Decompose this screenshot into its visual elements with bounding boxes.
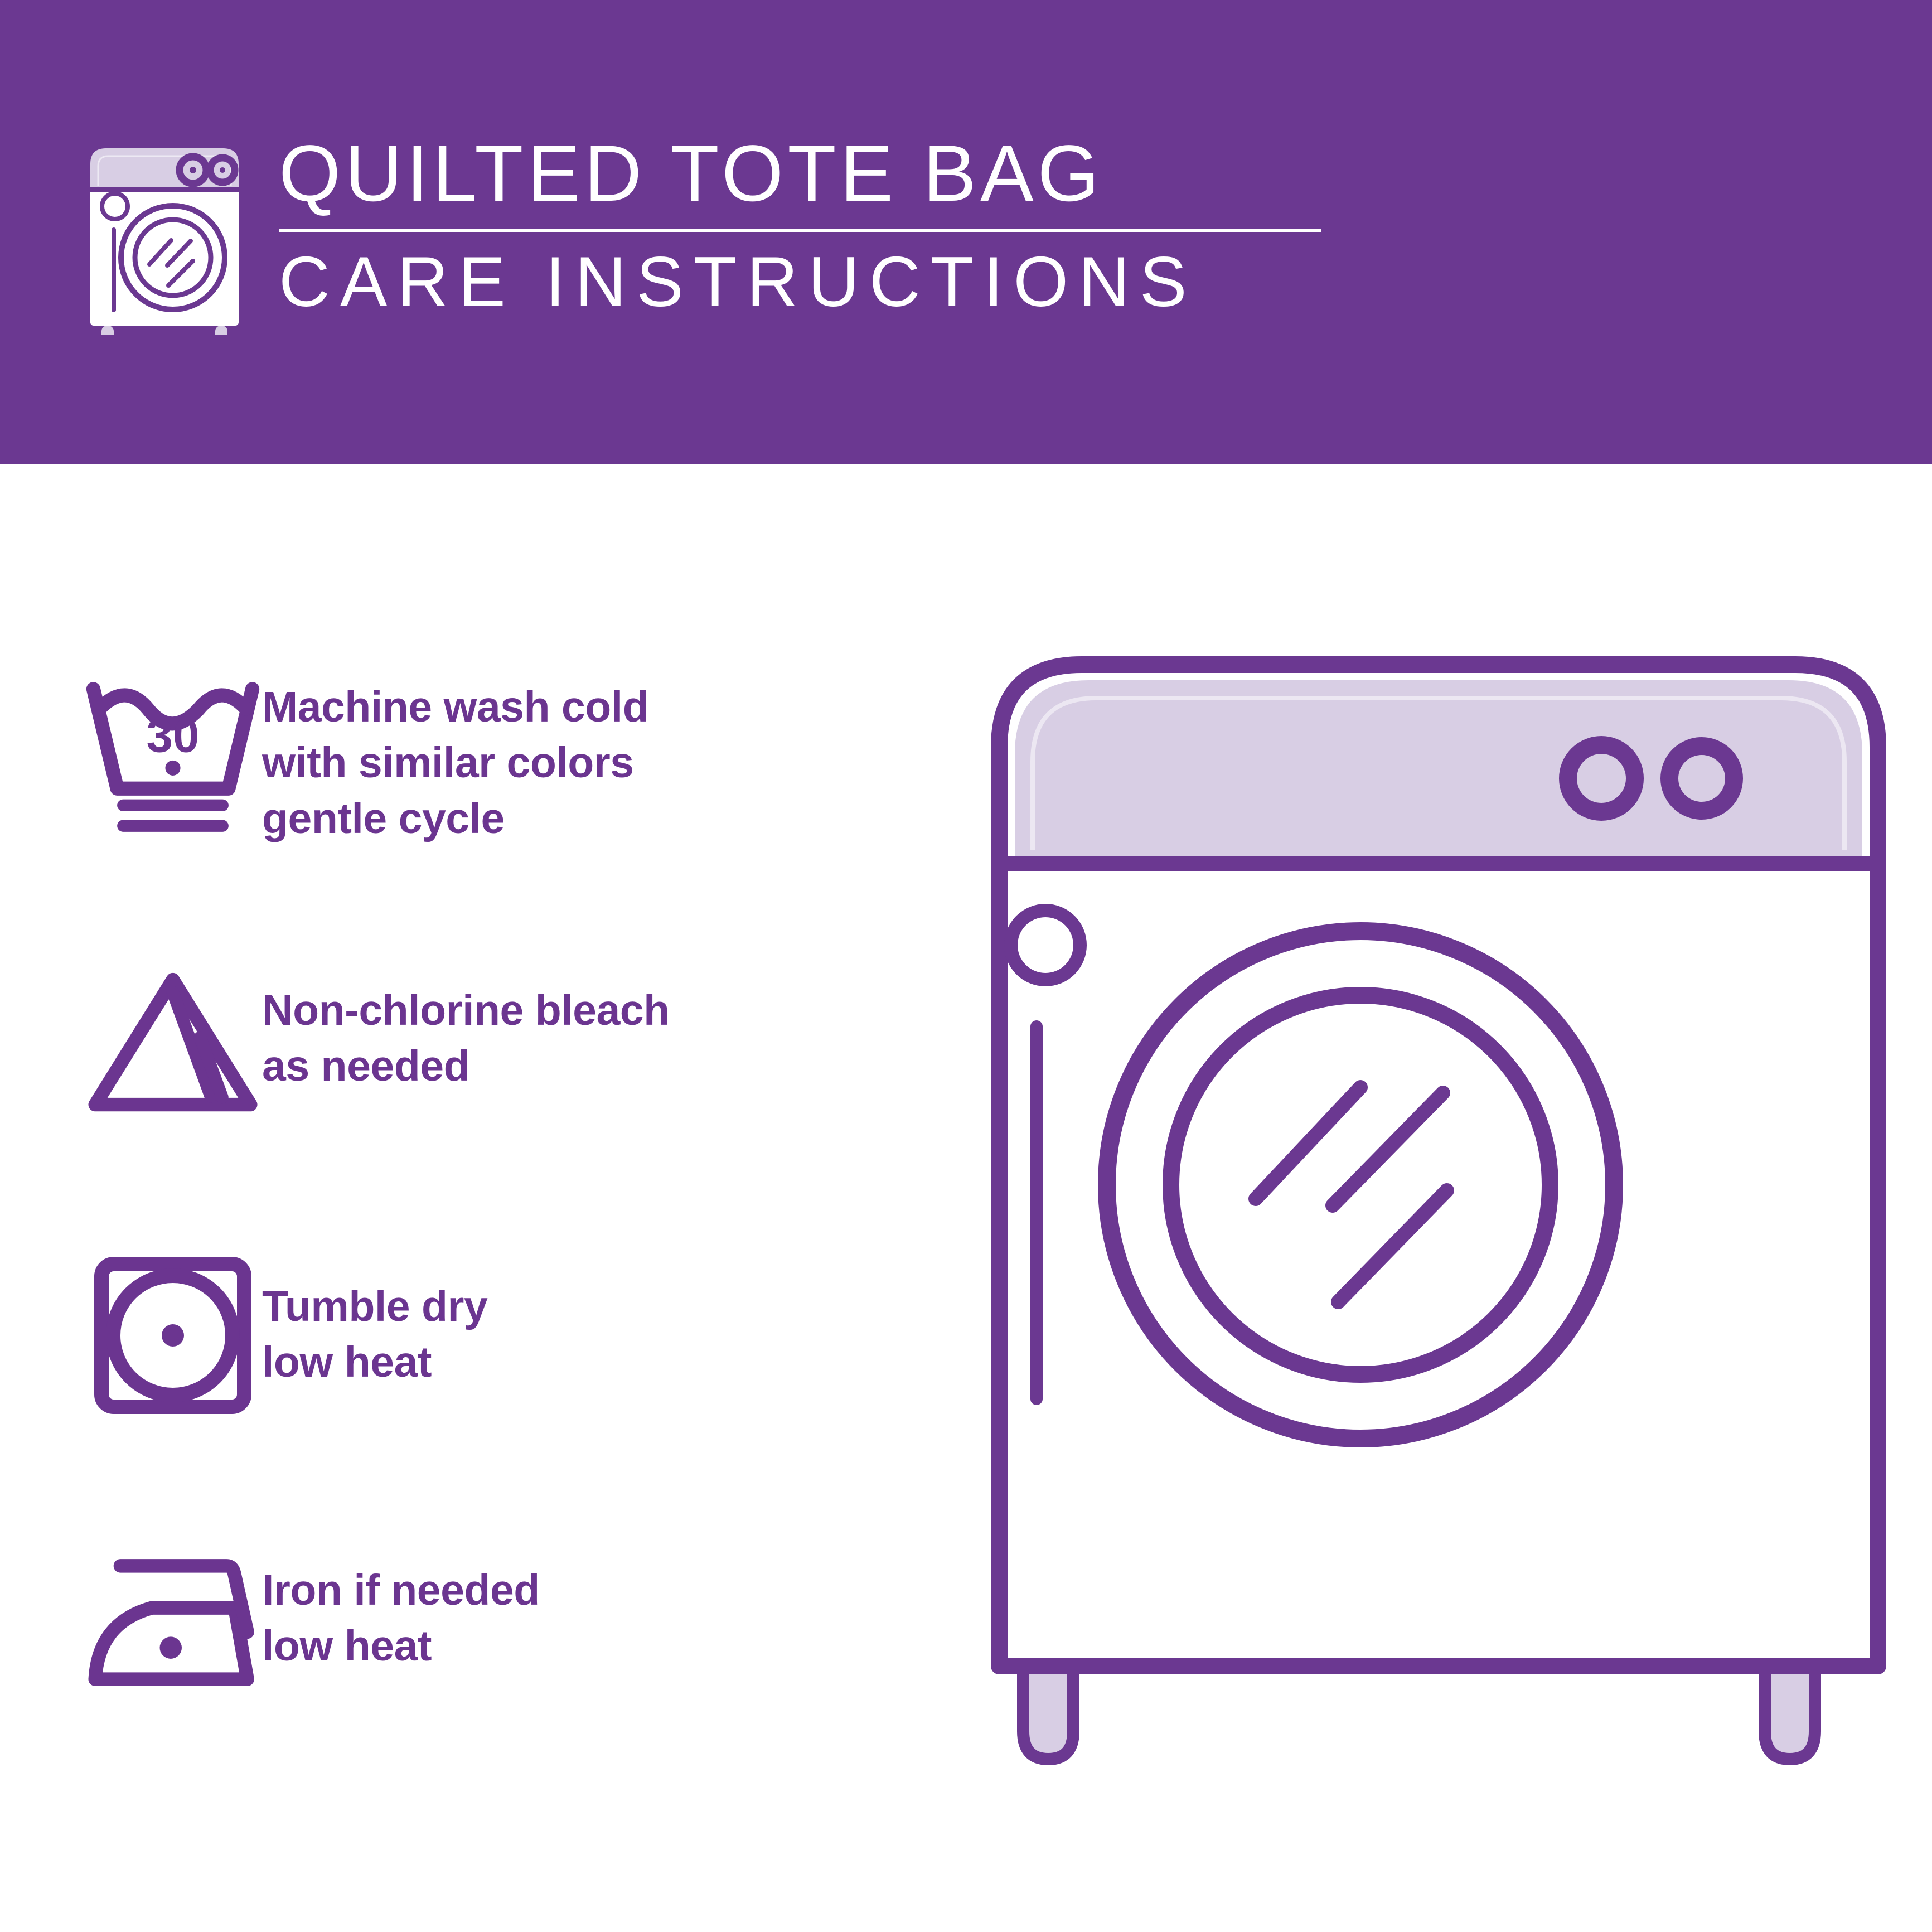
care-text-line: Machine wash cold	[262, 679, 648, 735]
wash-tub-30-gentle-icon: 30	[0, 657, 262, 858]
care-text-line: as needed	[262, 1038, 670, 1094]
page-title: QUILTED TOTE BAG	[279, 134, 1338, 214]
care-text-line: gentle cycle	[262, 791, 648, 846]
wash-temperature-label: 30	[147, 709, 200, 762]
care-instruction-item: 30 Machine wash cold with similar colors…	[0, 657, 948, 858]
care-instruction-text: Iron if needed low heat	[262, 1522, 540, 1674]
non-chlorine-bleach-triangle-icon	[0, 942, 262, 1143]
care-text-line: Iron if needed	[262, 1562, 540, 1618]
tumble-dry-low-heat-icon	[0, 1235, 262, 1436]
care-instruction-text: Non-chlorine bleach as needed	[262, 942, 670, 1094]
care-instruction-item: Iron if needed low heat	[0, 1522, 948, 1723]
header-divider	[279, 229, 1321, 232]
care-instruction-text: Tumble dry low heat	[262, 1235, 487, 1390]
detergent-handle	[1030, 1020, 1043, 1405]
care-text-line: low heat	[262, 1618, 540, 1674]
care-instruction-item: Non-chlorine bleach as needed	[0, 942, 948, 1143]
header-band: QUILTED TOTE BAG CARE INSTRUCTIONS	[0, 0, 1932, 464]
page-subtitle: CARE INSTRUCTIONS	[279, 246, 1338, 317]
care-text-line: with similar colors	[262, 735, 648, 791]
iron-low-heat-icon	[0, 1522, 262, 1723]
washing-machine-icon	[84, 141, 245, 335]
header-text-group: QUILTED TOTE BAG CARE INSTRUCTIONS	[279, 134, 1338, 317]
care-text-line: Non-chlorine bleach	[262, 982, 670, 1038]
care-instruction-item: Tumble dry low heat	[0, 1235, 948, 1436]
care-instruction-text: Machine wash cold with similar colors ge…	[262, 657, 648, 846]
care-text-line: low heat	[262, 1334, 487, 1390]
care-text-line: Tumble dry	[262, 1279, 487, 1334]
washing-machine-illustration	[970, 624, 1907, 1879]
